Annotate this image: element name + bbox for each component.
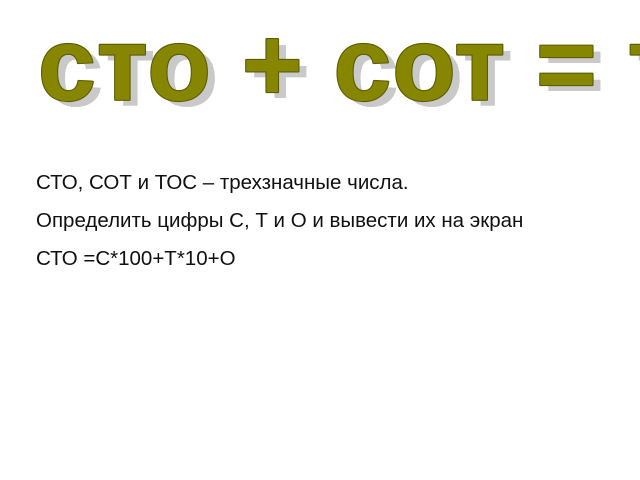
slide-canvas: сто + сот = тос сто + сот = тос СТО, СОТ… — [0, 0, 640, 480]
wordart-title-text: сто + сот = тос — [38, 7, 640, 123]
body-text-block: СТО, СОТ и ТОС – трехзначные числа. Опре… — [36, 168, 582, 273]
body-line-2: Определить цифры С, Т и О и вывести их н… — [36, 206, 582, 235]
wordart-title: сто + сот = тос сто + сот = тос — [32, 6, 632, 124]
wordart-svg: сто + сот = тос сто + сот = тос — [32, 6, 632, 124]
body-line-1: СТО, СОТ и ТОС – трехзначные числа. — [36, 168, 582, 197]
title-area: сто + сот = тос сто + сот = тос — [0, 6, 640, 126]
body-line-3: СТО =С*100+Т*10+О — [36, 244, 582, 273]
